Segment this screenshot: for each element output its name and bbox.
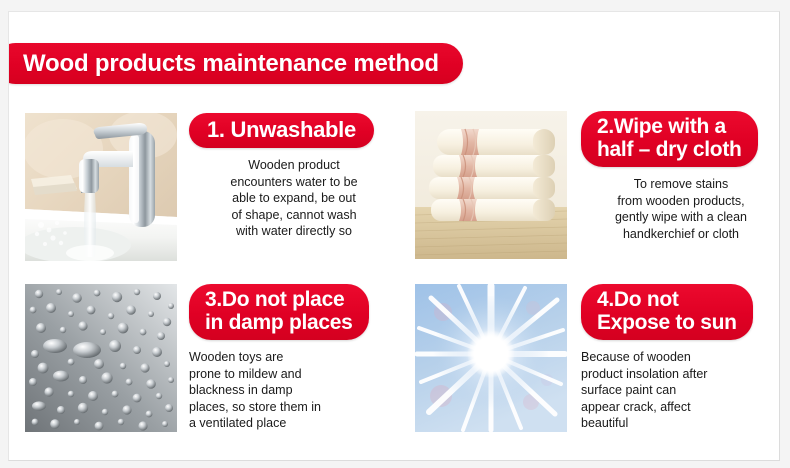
tip-4-description: Because of wooden product insolation aft… [581, 349, 780, 432]
tip-4-heading: 4.Do not Expose to sun [581, 284, 753, 340]
tip-3-image [25, 284, 177, 432]
faucet-running-water-photo [25, 113, 177, 261]
stacked-towels-photo [415, 111, 567, 259]
tip-1-image [25, 113, 177, 261]
tip-1-description: Wooden product encounters water to be ab… [189, 157, 399, 240]
infographic-card: Wood products maintenance method [8, 11, 780, 461]
bright-sun-sky-photo [415, 284, 567, 432]
infographic-page: Wood products maintenance method [0, 0, 790, 468]
tip-2-description: To remove stains from wooden products, g… [581, 176, 780, 242]
tip-4-image [415, 284, 567, 432]
tip-4-body: 4.Do not Expose to sun Because of wooden… [581, 284, 780, 432]
tip-2-heading: 2.Wipe with a half – dry cloth [581, 111, 758, 167]
tip-2-image [415, 111, 567, 259]
tip-2-body: 2.Wipe with a half – dry cloth To remove… [581, 111, 780, 242]
tip-1-body: 1. Unwashable Wooden product encounters … [189, 113, 399, 240]
tip-3-description: Wooden toys are prone to mildew and blac… [189, 349, 399, 432]
tip-1-heading: 1. Unwashable [189, 113, 374, 148]
page-title: Wood products maintenance method [23, 43, 447, 84]
water-droplets-photo [25, 284, 177, 432]
tip-3-body: 3.Do not place in damp places Wooden toy… [189, 284, 399, 432]
tip-3-heading: 3.Do not place in damp places [189, 284, 369, 340]
page-title-banner: Wood products maintenance method [8, 43, 463, 84]
